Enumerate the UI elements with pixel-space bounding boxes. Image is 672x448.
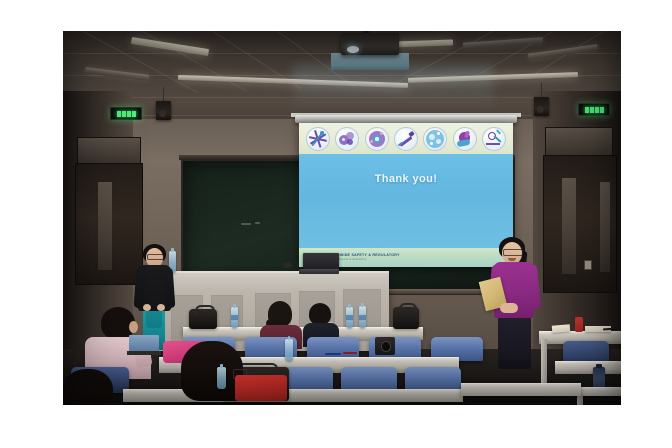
water-bottle: [346, 307, 353, 328]
ceiling-projector: [341, 33, 399, 55]
projection-screen: Thank you! WORLDWIDE SAFETY & REGULATORY…: [299, 123, 513, 267]
microscope-icon: [482, 127, 506, 151]
laptop: [129, 335, 159, 351]
backpack: [393, 307, 419, 329]
camera: [375, 337, 395, 355]
exit-sign: [110, 107, 142, 120]
right-arm: [164, 268, 176, 309]
slide-title: Thank you!: [299, 173, 513, 185]
classroom-door-right[interactable]: [543, 155, 617, 293]
speaker-wire: [163, 87, 164, 101]
heart-anatomy-icon: [453, 127, 477, 151]
water-bottle: [285, 339, 293, 361]
slide-header-band: [299, 123, 513, 154]
desk: [461, 383, 581, 396]
glasses-icon: [147, 254, 164, 260]
audience-member-5: [63, 369, 121, 405]
wall-speaker: [156, 101, 171, 120]
hands: [500, 303, 518, 313]
water-bottle: [359, 306, 366, 328]
desk-leg: [541, 339, 547, 383]
red-jacket: [235, 375, 287, 401]
cell-cluster-icon: [335, 127, 359, 151]
trousers: [498, 315, 531, 369]
neuron-star-icon: [306, 127, 330, 151]
water-bottle: [231, 307, 238, 328]
presenter-right: [486, 237, 542, 369]
speaker-wire: [541, 83, 542, 97]
projector-lens: [347, 46, 359, 53]
light-switch[interactable]: [584, 260, 592, 270]
laptop: [303, 253, 339, 270]
classroom-photograph: Thank you! WORLDWIDE SAFETY & REGULATORY…: [63, 31, 621, 405]
laptop-keyboard: [299, 269, 339, 274]
water-bottle: [217, 367, 226, 389]
globe-molecule-icon: [423, 127, 447, 151]
wall-speaker: [534, 97, 549, 116]
red-thermos: [575, 317, 583, 332]
computer-mouse: [283, 262, 292, 268]
projector-beam: [293, 65, 493, 111]
pen: [343, 352, 357, 354]
exit-sign: [578, 103, 610, 116]
pen: [325, 353, 341, 355]
virus-cell-icon: [365, 127, 389, 151]
desk-leg: [577, 395, 583, 405]
syringe-icon: [394, 127, 418, 151]
glasses-icon: [503, 249, 523, 256]
right-hand: [157, 304, 165, 311]
door-transom-left: [77, 137, 141, 165]
laptop-keyboard: [127, 351, 161, 355]
backpack: [189, 309, 217, 329]
slide-body: [299, 154, 513, 248]
screen-roller: [295, 115, 517, 123]
door-transom-right: [545, 127, 613, 157]
